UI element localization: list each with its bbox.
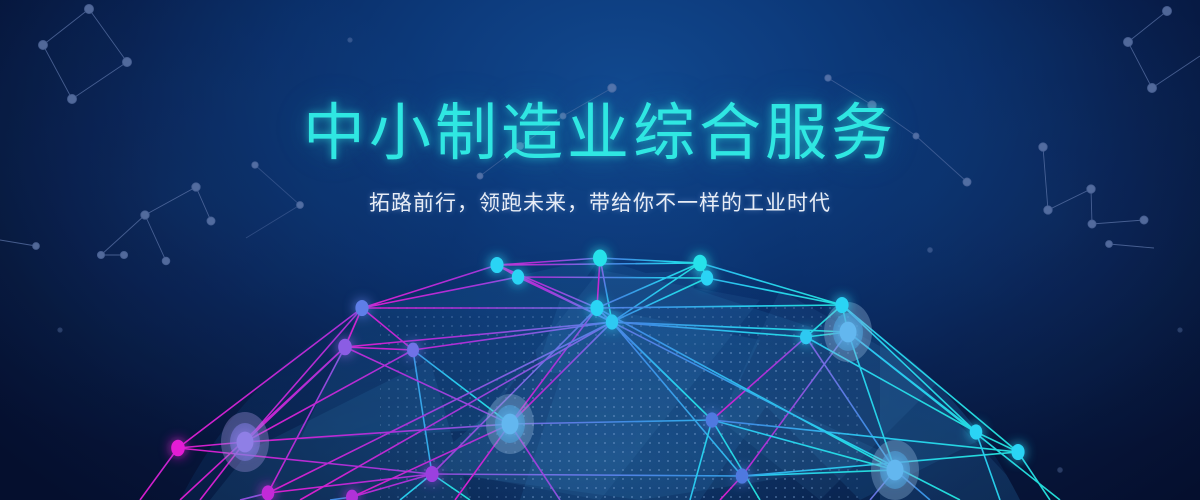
dome-node bbox=[693, 255, 707, 272]
dome-node bbox=[1011, 444, 1024, 460]
dome-node bbox=[970, 424, 983, 439]
dome-node bbox=[502, 414, 519, 435]
dome-node bbox=[590, 300, 603, 316]
dome-node bbox=[355, 300, 368, 316]
dome-node bbox=[800, 330, 812, 345]
dome-node bbox=[736, 468, 749, 483]
dome-node bbox=[346, 490, 358, 500]
dome-node bbox=[171, 440, 185, 457]
dome-node bbox=[490, 257, 503, 273]
dome-node bbox=[835, 297, 848, 313]
hero-banner: 中小制造业综合服务 拓路前行，领跑未来，带给你不一样的工业时代 bbox=[0, 0, 1200, 500]
dome-node bbox=[701, 270, 713, 285]
dome-network-layer bbox=[0, 0, 1200, 500]
dome-node bbox=[593, 249, 607, 266]
dome-node bbox=[407, 343, 419, 358]
dome-node bbox=[887, 460, 904, 481]
dome-node bbox=[706, 412, 719, 427]
dome-node bbox=[840, 322, 857, 343]
dome-node bbox=[512, 269, 524, 284]
dome-node bbox=[606, 314, 618, 329]
dome-node bbox=[425, 466, 438, 482]
dome-node bbox=[338, 339, 352, 356]
dome-node bbox=[237, 432, 254, 453]
dome-node bbox=[262, 485, 275, 500]
